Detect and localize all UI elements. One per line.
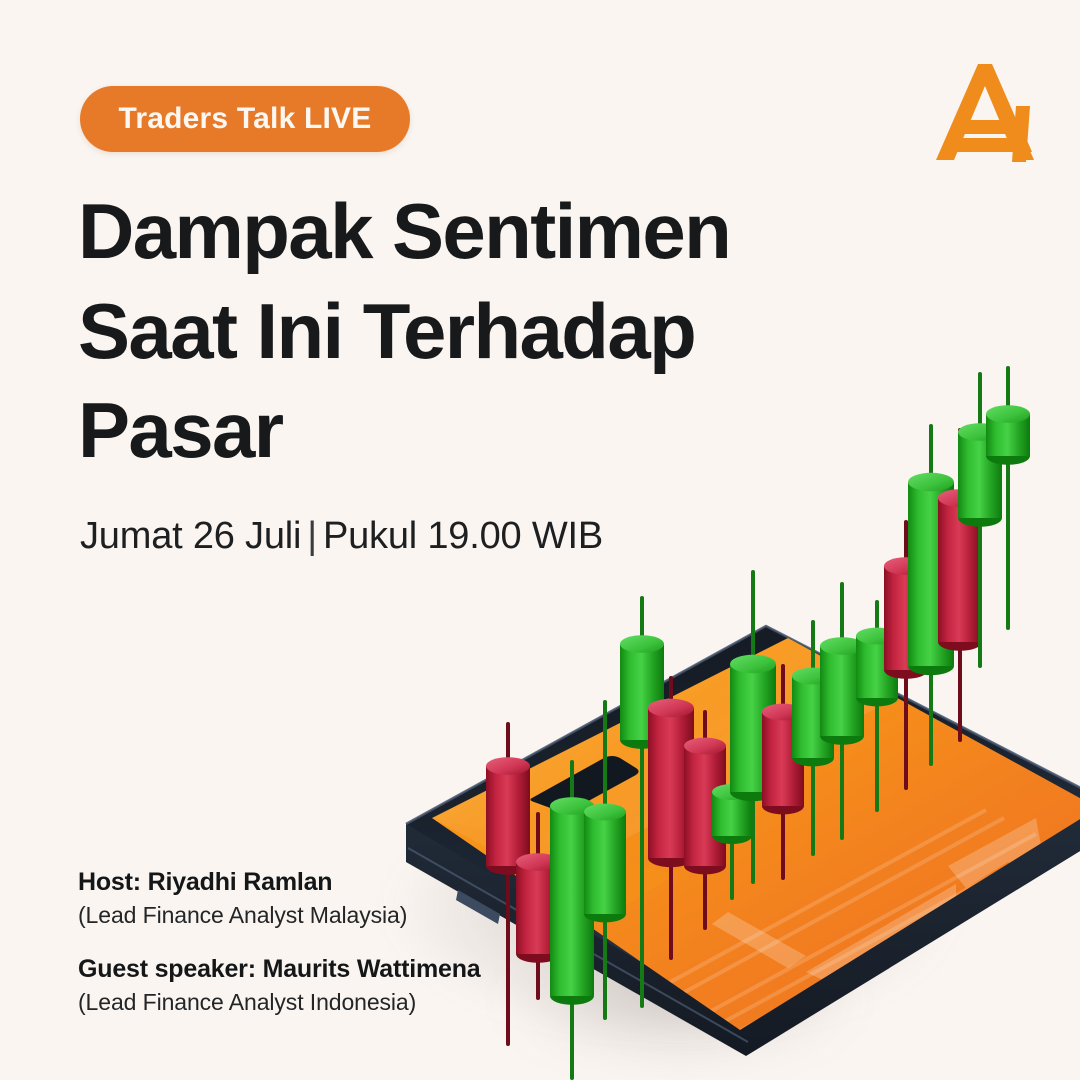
title-line-3: Pasar <box>78 391 798 471</box>
live-badge-label: Traders Talk LIVE <box>119 102 372 136</box>
credit-guest: Guest speaker: Maurits Wattimena (Lead F… <box>78 955 481 1016</box>
brand-a-logo-icon <box>930 58 1040 166</box>
credits-block: Host: Riyadhi Ramlan (Lead Finance Analy… <box>78 868 481 1016</box>
credit-host: Host: Riyadhi Ramlan (Lead Finance Analy… <box>78 868 481 929</box>
page-title: Dampak Sentimen Saat Ini Terhadap Pasar <box>78 192 798 491</box>
phone-screen <box>432 638 1080 1080</box>
schedule-time: Pukul 19.00 WIB <box>323 515 603 557</box>
poster-canvas: Traders Talk LIVE Dampak Sentimen Saat I… <box>0 0 1080 1080</box>
schedule-date: Jumat 26 Juli <box>80 515 301 557</box>
brand-logo[interactable] <box>930 58 1040 166</box>
guest-role: (Lead Finance Analyst Indonesia) <box>78 989 481 1016</box>
guest-name: Guest speaker: Maurits Wattimena <box>78 955 481 984</box>
schedule-line: Jumat 26 Juli|Pukul 19.00 WIB <box>80 515 603 558</box>
live-badge[interactable]: Traders Talk LIVE <box>80 86 410 152</box>
schedule-separator: | <box>301 515 323 557</box>
host-role: (Lead Finance Analyst Malaysia) <box>78 902 481 929</box>
title-line-1: Dampak Sentimen <box>78 192 798 272</box>
host-name: Host: Riyadhi Ramlan <box>78 868 481 897</box>
candle-18 <box>986 366 1030 630</box>
title-line-2: Saat Ini Terhadap <box>78 292 798 372</box>
